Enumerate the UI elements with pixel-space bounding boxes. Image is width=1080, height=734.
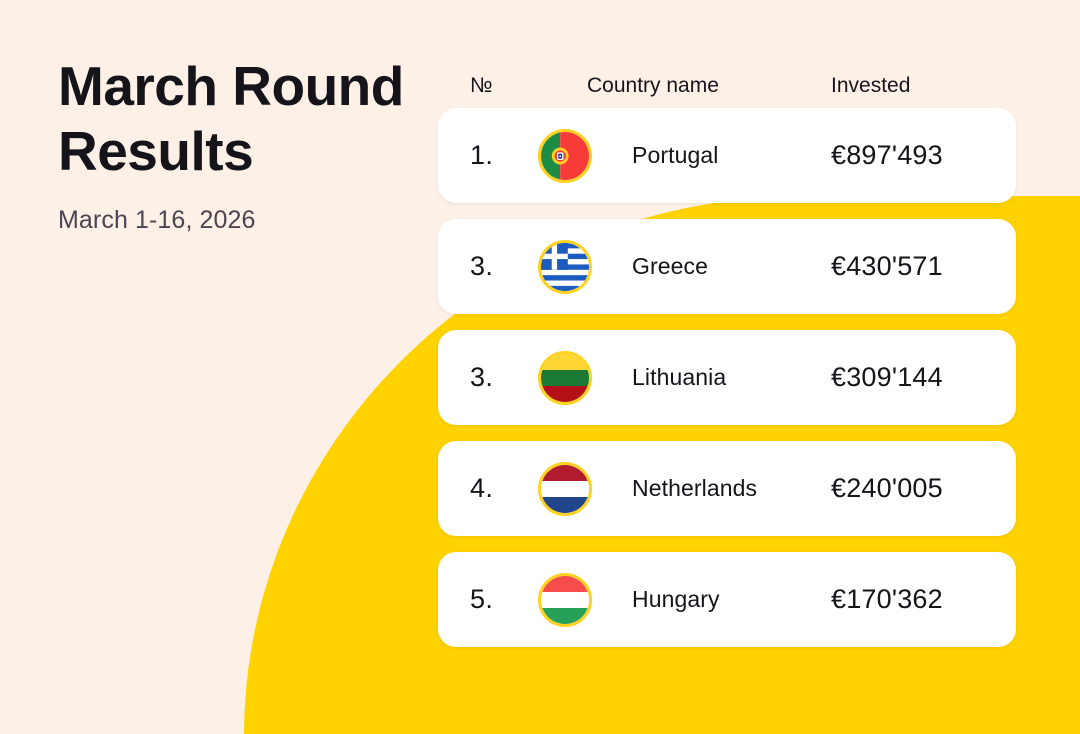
table-row[interactable]: 1. Portugal €897'493 xyxy=(438,108,1016,203)
row-flag-cell xyxy=(542,462,587,516)
row-flag-cell xyxy=(542,573,587,627)
table-row[interactable]: 3. Lithuania €309'144 xyxy=(438,330,1016,425)
table-header: № Country name Invested xyxy=(438,64,1016,108)
results-poster: March Round Results March 1-16, 2026 № C… xyxy=(0,0,1080,734)
column-header-invested: Invested xyxy=(823,74,1016,98)
flag-hungary-icon xyxy=(538,573,592,627)
results-table: № Country name Invested 1. xyxy=(438,64,1016,663)
row-country: Lithuania xyxy=(587,364,823,391)
row-invested: €170'362 xyxy=(823,584,1016,615)
flag-portugal-icon xyxy=(538,129,592,183)
row-rank: 3. xyxy=(470,362,542,393)
column-header-number: № xyxy=(470,74,542,98)
row-flag-cell xyxy=(542,129,587,183)
row-country: Greece xyxy=(587,253,823,280)
row-country: Netherlands xyxy=(587,475,823,502)
page-subtitle: March 1-16, 2026 xyxy=(58,206,438,235)
flag-greece-icon xyxy=(538,240,592,294)
row-flag-cell xyxy=(542,240,587,294)
page-title: March Round Results xyxy=(58,54,438,184)
row-country: Portugal xyxy=(587,142,823,169)
row-flag-cell xyxy=(542,351,587,405)
row-invested: €430'571 xyxy=(823,251,1016,282)
row-invested: €240'005 xyxy=(823,473,1016,504)
table-row[interactable]: 3. Greece €430'57 xyxy=(438,219,1016,314)
heading-block: March Round Results March 1-16, 2026 xyxy=(58,54,438,235)
flag-lithuania-icon xyxy=(538,351,592,405)
row-rank: 3. xyxy=(470,251,542,282)
flag-netherlands-icon xyxy=(538,462,592,516)
row-rank: 4. xyxy=(470,473,542,504)
row-country: Hungary xyxy=(587,586,823,613)
row-invested: €897'493 xyxy=(823,140,1016,171)
table-row[interactable]: 5. Hungary €170'362 xyxy=(438,552,1016,647)
column-header-country: Country name xyxy=(542,74,823,98)
row-rank: 5. xyxy=(470,584,542,615)
row-invested: €309'144 xyxy=(823,362,1016,393)
row-rank: 1. xyxy=(470,140,542,171)
table-row[interactable]: 4. Netherlands €240'005 xyxy=(438,441,1016,536)
